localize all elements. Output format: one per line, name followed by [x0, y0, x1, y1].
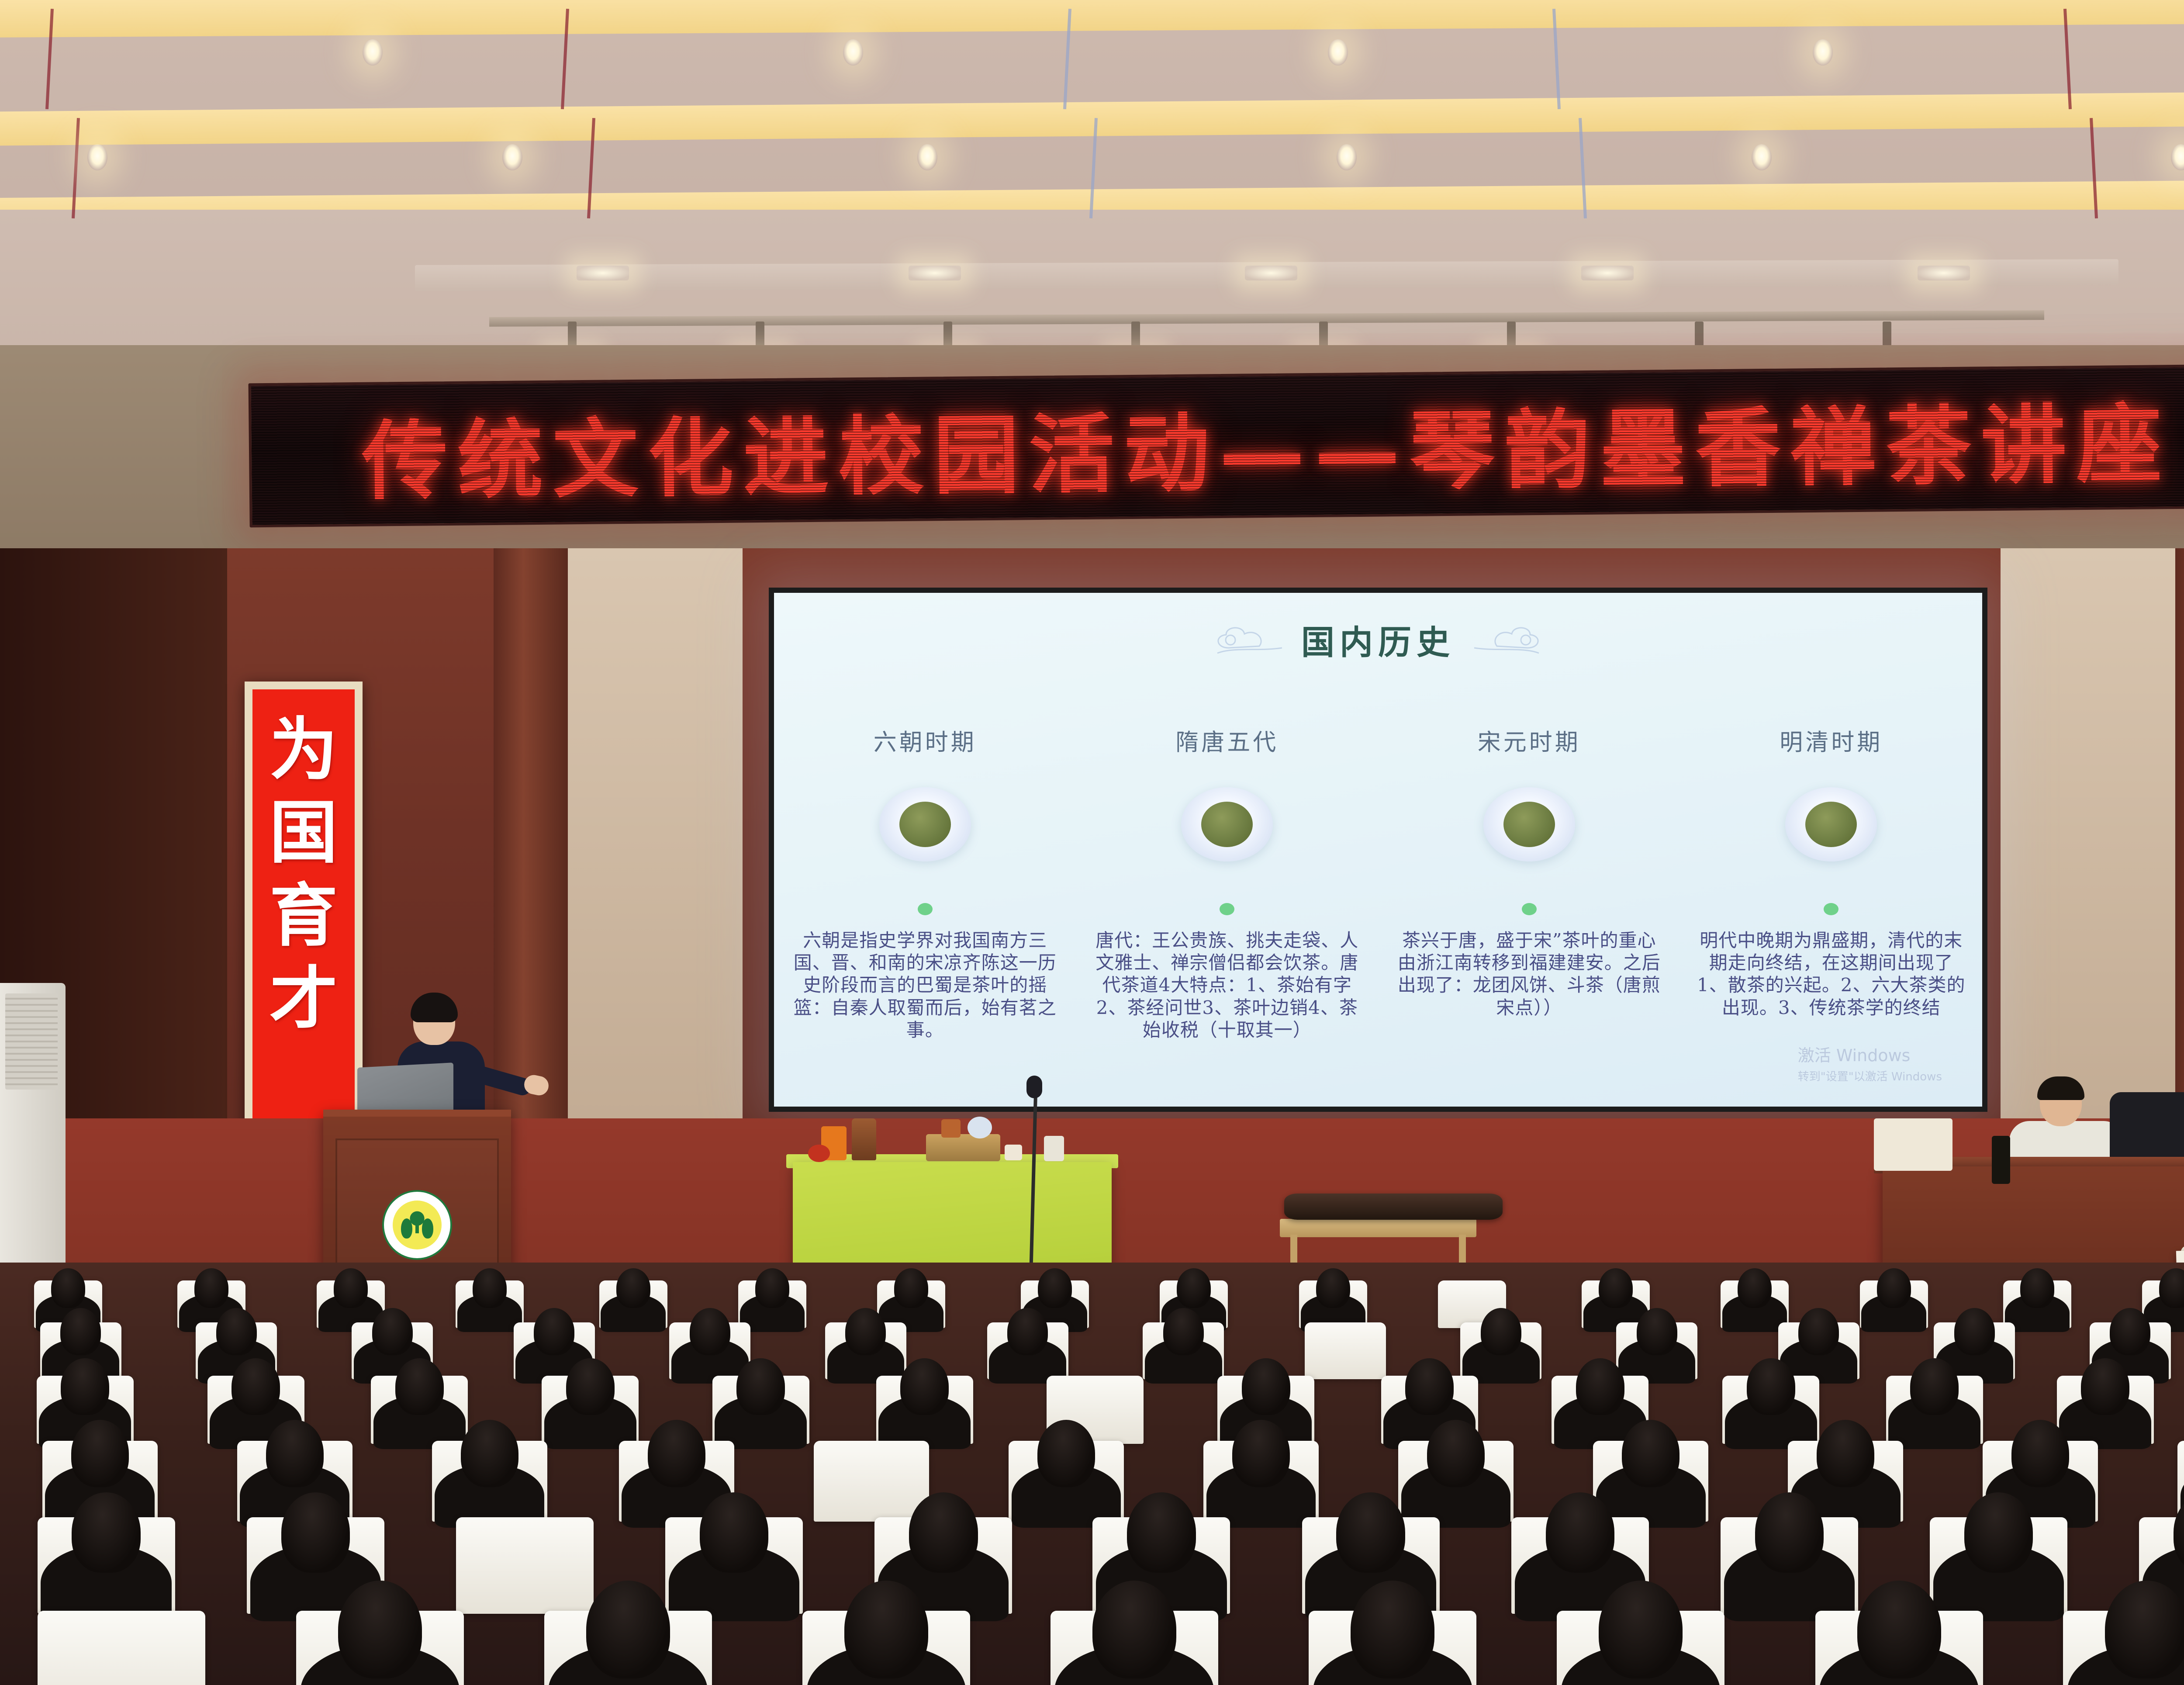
slide-tea-leaf-images: [774, 787, 1982, 862]
soffit-light: [1245, 266, 1297, 280]
microphone-head: [1026, 1076, 1042, 1098]
audience-member-head: [1092, 1581, 1176, 1678]
audience-member-head: [2110, 1308, 2150, 1356]
audience-member-head: [894, 1268, 928, 1308]
audience-member-head: [2105, 1581, 2184, 1678]
audience-member-head: [51, 1268, 85, 1308]
ceiling-band: [0, 89, 2184, 145]
audience-member-head: [232, 1358, 280, 1415]
audience-member-head: [1877, 1268, 1911, 1308]
period-body: 茶兴于唐，盛于宋”茶叶的重心由浙江南转移到福建建安。之后出现了：龙团风饼、斗茶（…: [1378, 929, 1680, 1041]
banner-char: 育: [270, 882, 338, 950]
led-event-banner: 传统文化进校园活动——琴韵墨香禅茶讲座: [249, 364, 2184, 528]
ceiling-downlight: [502, 144, 522, 170]
slide-bullet-dots: [774, 903, 1982, 915]
audience-member-head: [1954, 1308, 1995, 1356]
tea-cup-white: [1005, 1145, 1022, 1160]
audience-member-head: [1576, 1358, 1624, 1415]
audience-member-head: [1232, 1420, 1290, 1487]
audience-member-head: [845, 1308, 886, 1356]
presentation-slide: 国内历史 六朝时期 隋唐五代 宋元时期 明清时期: [774, 593, 1982, 1107]
ceiling-downlight: [363, 39, 383, 66]
bullet-dot-icon: [1220, 903, 1234, 915]
soffit-light: [577, 266, 629, 280]
period-heading: 隋唐五代: [1076, 724, 1379, 757]
tea-cup-red: [808, 1145, 830, 1162]
ceiling-downlight: [1328, 39, 1348, 66]
ceiling-downlight: [843, 39, 863, 66]
emblem-tree-icon: [402, 1209, 432, 1241]
tea-tray: [926, 1134, 1000, 1161]
audience-member-head: [1038, 1268, 1072, 1308]
watermark-line-2: 转到"设置"以激活 Windows: [1798, 1068, 1942, 1084]
audience-member-head: [2020, 1268, 2054, 1308]
audience-member-head: [1007, 1308, 1048, 1356]
audience-member-head: [909, 1492, 978, 1573]
audience-member-head: [566, 1358, 615, 1415]
presenter-hair: [411, 993, 458, 1022]
audience-chair: [456, 1517, 594, 1614]
projection-screen: 国内历史 六朝时期 隋唐五代 宋元时期 明清时期: [769, 588, 1987, 1112]
audience-member-head: [1747, 1358, 1795, 1415]
audience-member-head: [461, 1420, 518, 1487]
audience-member-head: [71, 1420, 129, 1487]
period-body: 唐代：王公贵族、挑夫走袋、人文雅士、禅宗僧侣都会饮茶。唐代茶道4大特点：1、茶始…: [1076, 929, 1379, 1041]
audience-member-head: [266, 1420, 324, 1487]
period-column: 六朝时期: [774, 724, 1076, 757]
ceiling-downlight: [1752, 144, 1772, 170]
audience-member-head: [616, 1268, 650, 1308]
audience-member-head: [60, 1308, 101, 1356]
audience-member-head: [334, 1268, 368, 1308]
led-banner-text: 传统文化进校园活动——琴韵墨香禅茶讲座: [251, 374, 2184, 517]
host-hair: [2037, 1076, 2084, 1100]
period-heading: 六朝时期: [774, 724, 1076, 757]
wall-light-column-left: [559, 548, 743, 1142]
wall-light-column-right: [2001, 548, 2184, 1142]
ceiling-downlight: [1337, 144, 1357, 170]
ceiling-downlight: [1813, 39, 1833, 66]
audience-member-head: [1798, 1308, 1839, 1356]
audience-chair: [38, 1611, 205, 1685]
audience-member-head: [216, 1308, 257, 1356]
bullet-dot-icon: [918, 903, 933, 915]
audience-member-head: [72, 1492, 141, 1573]
tea-leaves-icon: [1503, 802, 1555, 847]
windows-activation-watermark: 激活 Windows 转到"设置"以激活 Windows: [1798, 1042, 1942, 1084]
audience-member-head: [736, 1358, 785, 1415]
audience-member-head: [1817, 1420, 1874, 1487]
tea-leaves-icon: [1201, 802, 1253, 847]
tea-leaves-icon: [1805, 802, 1857, 847]
period-body: 六朝是指史学界对我国南方三国、晋、和南的宋凉齐陈这一历史阶段而言的巴蜀是茶叶的摇…: [774, 929, 1076, 1041]
audience-member-head: [1546, 1492, 1615, 1573]
desk-sign: [1874, 1118, 1952, 1171]
audience-member-head: [1242, 1358, 1290, 1415]
audience-member-head: [1336, 1492, 1405, 1573]
soffit-light: [909, 266, 961, 280]
audience-member-head: [1481, 1308, 1521, 1356]
audience-member-head: [534, 1308, 574, 1356]
period-body: 明代中晚期为鼎盛期，清代的末期走向终结，在这期间出现了1、散茶的兴起。2、六大茶…: [1680, 929, 1983, 1041]
slide-title-row: 国内历史: [774, 616, 1982, 664]
period-column: 宋元时期: [1378, 724, 1680, 757]
bullet-dot-icon: [1824, 903, 1838, 915]
audience-member-head: [473, 1268, 507, 1308]
audience-member-head: [194, 1268, 228, 1308]
audience-member-head: [338, 1581, 422, 1678]
college-emblem-icon: [382, 1190, 452, 1260]
tea-pot: [852, 1118, 876, 1160]
glass-pitcher: [968, 1117, 992, 1138]
tea-plate-image: [879, 787, 971, 862]
audience-member-head: [1316, 1268, 1350, 1308]
audience-member-head: [1127, 1492, 1196, 1573]
audience-member-head: [1910, 1358, 1959, 1415]
audience-member-head: [1599, 1581, 1683, 1678]
audience-member-head: [372, 1308, 413, 1356]
audience-member-head: [1351, 1581, 1434, 1678]
audience-member-head: [2011, 1420, 2069, 1487]
period-column: 明清时期: [1680, 724, 1983, 757]
ceiling-downlight: [87, 144, 107, 170]
slide-body-columns: 六朝是指史学界对我国南方三国、晋、和南的宋凉齐陈这一历史阶段而言的巴蜀是茶叶的摇…: [774, 929, 1982, 1041]
bullet-dot-icon: [1522, 903, 1537, 915]
audience-member-head: [586, 1581, 670, 1678]
audience-member-head: [1755, 1492, 1824, 1573]
cloud-ornament-icon: [1471, 623, 1545, 657]
lecture-hall-photo: 传统文化进校园活动——琴韵墨香禅茶讲座 为 国 育 才 为 党 育 人: [0, 0, 2184, 1685]
audience-member-head: [1738, 1268, 1772, 1308]
soffit-light: [1581, 266, 1634, 280]
audience-member-head: [1163, 1308, 1204, 1356]
tea-plate-image: [1785, 787, 1877, 862]
banner-char: 为: [270, 716, 338, 784]
audience-member-head: [690, 1308, 730, 1356]
wall-banner-left: 为 国 育 才: [245, 682, 363, 1166]
audience-chair: [814, 1441, 929, 1522]
air-conditioner-unit: [0, 983, 66, 1297]
water-bottle: [1992, 1136, 2010, 1184]
ceiling-band: [0, 0, 2184, 38]
audience-member-head: [844, 1581, 928, 1678]
tea-kettle: [941, 1119, 961, 1138]
slide-period-headings: 六朝时期 隋唐五代 宋元时期 明清时期: [774, 724, 1982, 757]
audience-member-head: [1964, 1492, 2033, 1573]
slide-title: 国内历史: [1301, 616, 1455, 664]
audience-member-head: [1599, 1268, 1633, 1308]
audience-member-head: [1857, 1581, 1941, 1678]
period-heading: 宋元时期: [1378, 724, 1680, 757]
audience-member-head: [1405, 1358, 1454, 1415]
ceiling-downlight: [917, 144, 937, 170]
tea-utensil: [1044, 1136, 1064, 1161]
tea-plate-image: [1483, 787, 1575, 862]
audience-member-head: [1427, 1420, 1485, 1487]
audience-member-head: [1177, 1268, 1211, 1308]
emblem-inner: [393, 1201, 442, 1249]
guqin-instrument: [1284, 1194, 1503, 1220]
audience-member-head: [2081, 1358, 2129, 1415]
audience-seating: [0, 1263, 2184, 1685]
period-column: 隋唐五代: [1076, 724, 1379, 757]
audience-member-head: [755, 1268, 789, 1308]
banner-char: 国: [270, 799, 338, 867]
audience-member-head: [1622, 1420, 1679, 1487]
audience-member-head: [1637, 1308, 1677, 1356]
audience-member-head: [1037, 1420, 1095, 1487]
guqin-stand-top: [1280, 1219, 1476, 1237]
audience-chair: [1305, 1322, 1386, 1379]
audience-member-head: [900, 1358, 949, 1415]
audience-member-head: [281, 1492, 350, 1573]
audience-member-head: [700, 1492, 769, 1573]
audience-member-head: [648, 1420, 705, 1487]
ac-grill: [5, 993, 58, 1090]
audience-member-head: [395, 1358, 444, 1415]
soffit-light: [1918, 266, 1970, 280]
cloud-ornament-icon: [1211, 623, 1286, 657]
audience-member-head: [61, 1358, 109, 1415]
tea-plate-image: [1181, 787, 1273, 862]
banner-char: 才: [270, 965, 338, 1033]
period-heading: 明清时期: [1680, 724, 1983, 757]
tea-leaves-icon: [899, 802, 951, 847]
watermark-line-1: 激活 Windows: [1798, 1042, 1942, 1066]
